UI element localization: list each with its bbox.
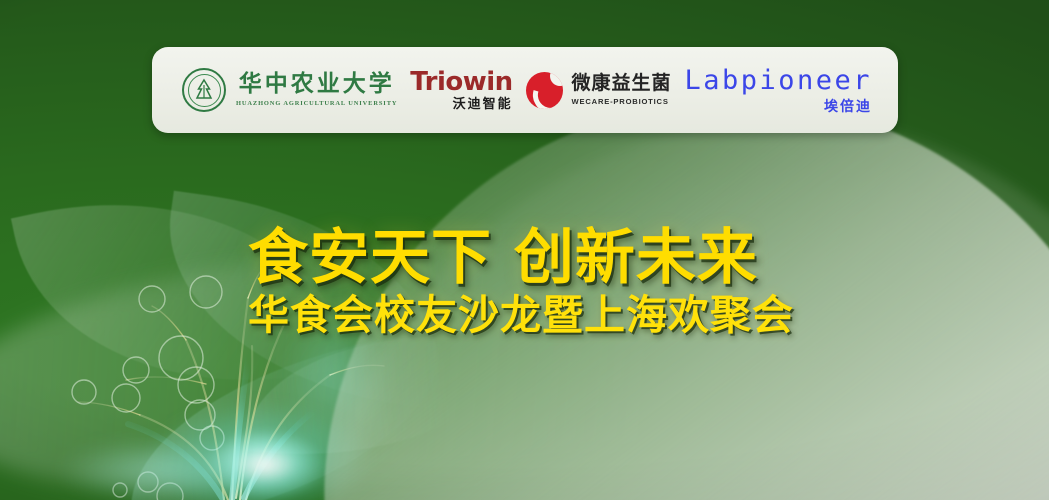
wecare-text-block: 微康益生菌 WECARE-PROBIOTICS	[572, 74, 672, 106]
triowin-en-name: Triowin	[410, 69, 512, 95]
sponsor-logo-bar: 华中农业大学 HUAZHONG AGRICULTURAL UNIVERSITY …	[152, 47, 898, 133]
logo-triowin[interactable]: Triowin 沃迪智能	[410, 69, 512, 111]
poster-canvas: 华中农业大学 HUAZHONG AGRICULTURAL UNIVERSITY …	[0, 0, 1049, 500]
seal-inner-glyph	[191, 77, 217, 103]
poster-main-title: 食安天下 创新未来	[248, 228, 848, 289]
wecare-en-name: WECARE-PROBIOTICS	[572, 98, 672, 106]
hzau-en-name: HUAZHONG AGRICULTURAL UNIVERSITY	[236, 101, 397, 107]
wecare-swirl-icon	[526, 72, 563, 109]
poster-subtitle: 华食会校友沙龙暨上海欢聚会	[248, 294, 848, 337]
logo-wecare[interactable]: 微康益生菌 WECARE-PROBIOTICS	[526, 72, 672, 109]
triowin-cn-name: 沃迪智能	[453, 98, 513, 111]
university-seal-icon	[182, 68, 226, 112]
logo-hzau[interactable]: 华中农业大学 HUAZHONG AGRICULTURAL UNIVERSITY	[182, 68, 397, 112]
labpioneer-en-name: Labpioneer	[684, 67, 872, 94]
labpioneer-cn-name: 埃倍迪	[824, 100, 872, 114]
hzau-cn-name: 华中农业大学	[239, 73, 395, 96]
logo-labpioneer[interactable]: Labpioneer 埃倍迪	[684, 67, 872, 114]
headline-block: 食安天下 创新未来 华食会校友沙龙暨上海欢聚会	[248, 228, 848, 337]
hzau-text-block: 华中农业大学 HUAZHONG AGRICULTURAL UNIVERSITY	[236, 73, 397, 107]
wecare-cn-name: 微康益生菌	[572, 74, 672, 93]
